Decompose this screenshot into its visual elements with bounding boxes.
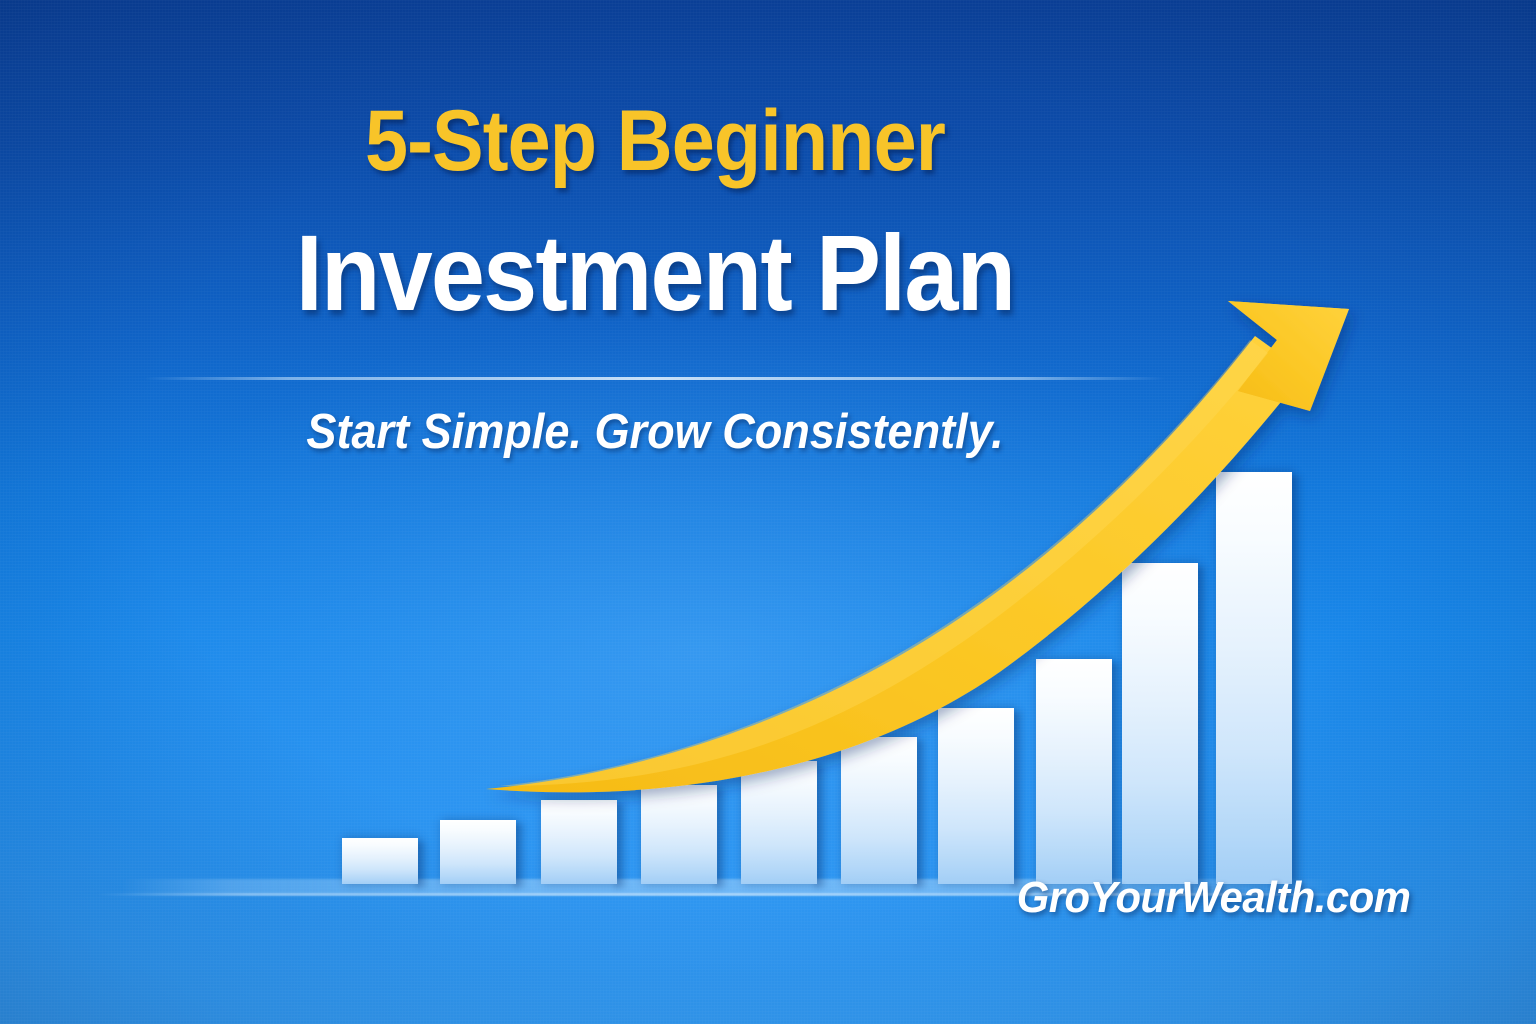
page-subtitle: Start Simple. Grow Consistently. bbox=[52, 404, 1257, 460]
page-title-line1: 5-Step Beginner bbox=[66, 96, 1245, 186]
site-watermark: GroYourWealth.com bbox=[1016, 873, 1410, 923]
page-title-line2: Investment Plan bbox=[66, 218, 1245, 328]
poster-canvas: 5-Step Beginner Investment Plan Start Si… bbox=[0, 0, 1536, 1024]
title-divider bbox=[145, 377, 1165, 380]
